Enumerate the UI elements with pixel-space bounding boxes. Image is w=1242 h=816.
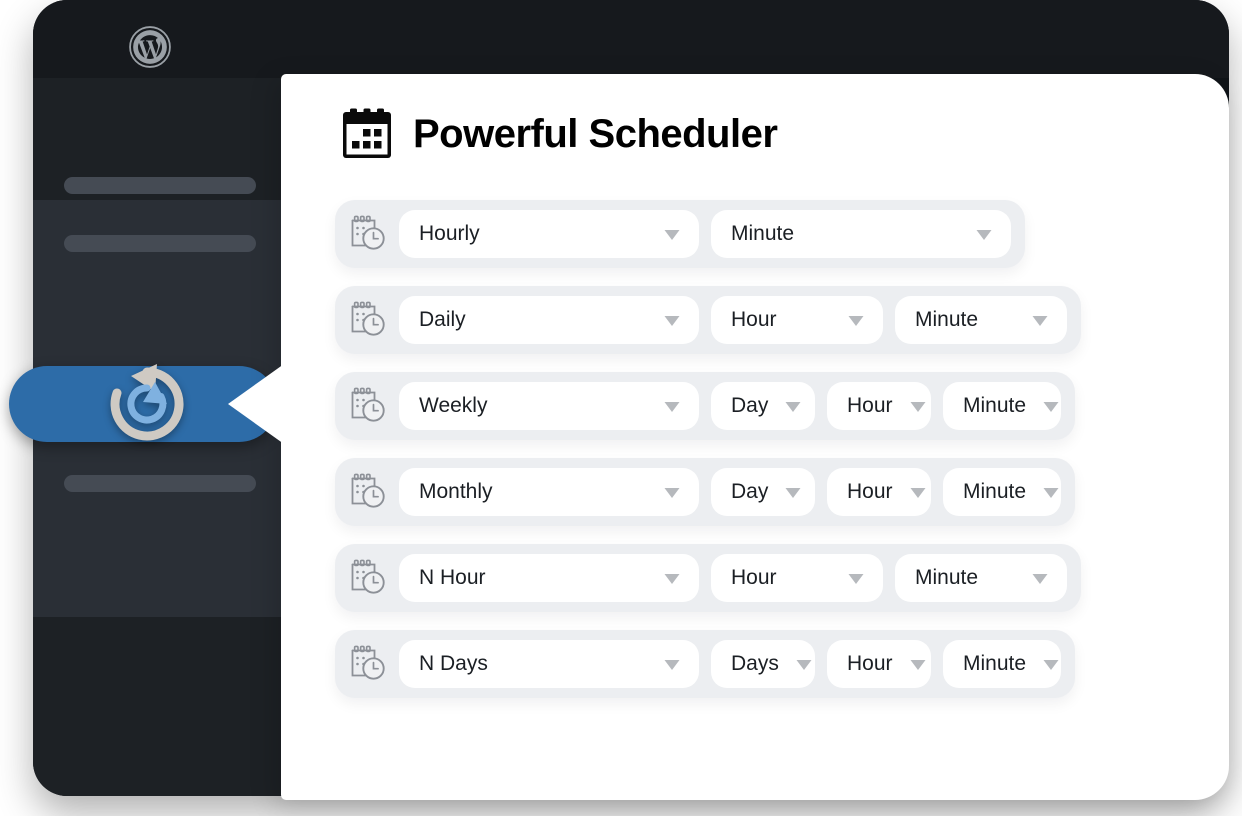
select-value: Hourly	[419, 222, 480, 246]
select-weekly-frequency[interactable]: Weekly	[399, 382, 699, 430]
select-n-days-days[interactable]: Days	[711, 640, 815, 688]
select-value: Day	[731, 480, 768, 504]
select-value: Weekly	[419, 394, 487, 418]
select-n-hour-minute[interactable]: Minute	[895, 554, 1067, 602]
select-value: Daily	[419, 308, 466, 332]
chevron-down-icon[interactable]	[661, 567, 683, 589]
chevron-down-icon[interactable]	[793, 653, 815, 675]
chevron-down-icon[interactable]	[1029, 309, 1051, 331]
chevron-down-icon[interactable]	[1040, 395, 1062, 417]
select-daily-frequency[interactable]: Daily	[399, 296, 699, 344]
select-monthly-hour[interactable]: Hour	[827, 468, 931, 516]
select-value: Monthly	[419, 480, 493, 504]
select-hourly-minute[interactable]: Minute	[711, 210, 1011, 258]
content-panel: Powerful Scheduler Hourly Minute	[281, 74, 1229, 800]
select-monthly-day[interactable]: Day	[711, 468, 815, 516]
schedule-row-weekly: Weekly Day Hour Minute	[335, 372, 1075, 440]
chevron-down-icon[interactable]	[907, 395, 929, 417]
chevron-down-icon[interactable]	[661, 395, 683, 417]
select-monthly-frequency[interactable]: Monthly	[399, 468, 699, 516]
select-value: Minute	[915, 566, 978, 590]
wordpress-admin-bar	[33, 0, 1229, 78]
select-value: Minute	[963, 480, 1026, 504]
select-value: Minute	[731, 222, 794, 246]
select-n-hour-frequency[interactable]: N Hour	[399, 554, 699, 602]
panel-notch	[228, 364, 284, 444]
select-n-days-minute[interactable]: Minute	[943, 640, 1061, 688]
select-n-hour-hour[interactable]: Hour	[711, 554, 883, 602]
calendar-icon	[341, 107, 393, 161]
schedule-row-daily: Daily Hour Minute	[335, 286, 1081, 354]
chevron-down-icon[interactable]	[661, 653, 683, 675]
chevron-down-icon[interactable]	[661, 309, 683, 331]
chevron-down-icon[interactable]	[661, 223, 683, 245]
select-daily-hour[interactable]: Hour	[711, 296, 883, 344]
select-value: N Hour	[419, 566, 486, 590]
page-title: Powerful Scheduler	[413, 112, 777, 157]
select-weekly-minute[interactable]: Minute	[943, 382, 1061, 430]
select-weekly-day[interactable]: Day	[711, 382, 815, 430]
select-value: Hour	[847, 394, 893, 418]
sidebar-item-placeholder-4[interactable]	[64, 475, 256, 492]
chevron-down-icon[interactable]	[1040, 481, 1062, 503]
schedule-row-n-days: N Days Days Hour Minute	[335, 630, 1075, 698]
select-hourly-frequency[interactable]: Hourly	[399, 210, 699, 258]
wordpress-logo-icon[interactable]	[128, 25, 172, 69]
calendar-clock-icon	[347, 557, 389, 599]
select-value: Hour	[731, 308, 777, 332]
chevron-down-icon[interactable]	[845, 309, 867, 331]
schedule-row-n-hour: N Hour Hour Minute	[335, 544, 1081, 612]
chevron-down-icon[interactable]	[907, 653, 929, 675]
select-value: Days	[731, 652, 779, 676]
select-value: Hour	[847, 480, 893, 504]
select-value: Day	[731, 394, 768, 418]
calendar-clock-icon	[347, 213, 389, 255]
schedule-row-monthly: Monthly Day Hour Minute	[335, 458, 1075, 526]
select-value: Minute	[963, 394, 1026, 418]
calendar-clock-icon	[347, 385, 389, 427]
calendar-clock-icon	[347, 643, 389, 685]
schedule-row-hourly: Hourly Minute	[335, 200, 1025, 268]
select-n-days-frequency[interactable]: N Days	[399, 640, 699, 688]
chevron-down-icon[interactable]	[1029, 567, 1051, 589]
select-daily-minute[interactable]: Minute	[895, 296, 1067, 344]
select-monthly-minute[interactable]: Minute	[943, 468, 1061, 516]
schedule-rows: Hourly Minute Daily Hour	[335, 200, 1205, 716]
select-value: Minute	[963, 652, 1026, 676]
select-value: N Days	[419, 652, 488, 676]
chevron-down-icon[interactable]	[782, 481, 804, 503]
sync-refresh-icon[interactable]	[95, 352, 199, 456]
chevron-down-icon[interactable]	[907, 481, 929, 503]
chevron-down-icon[interactable]	[1040, 653, 1062, 675]
sidebar-item-placeholder-2[interactable]	[64, 235, 256, 252]
select-value: Hour	[847, 652, 893, 676]
sidebar-item-placeholder-1[interactable]	[64, 177, 256, 194]
select-weekly-hour[interactable]: Hour	[827, 382, 931, 430]
chevron-down-icon[interactable]	[661, 481, 683, 503]
screenshot-stage: Powerful Scheduler Hourly Minute	[0, 0, 1242, 816]
chevron-down-icon[interactable]	[973, 223, 995, 245]
calendar-clock-icon	[347, 299, 389, 341]
select-value: Hour	[731, 566, 777, 590]
chevron-down-icon[interactable]	[782, 395, 804, 417]
calendar-clock-icon	[347, 471, 389, 513]
select-value: Minute	[915, 308, 978, 332]
select-n-days-hour[interactable]: Hour	[827, 640, 931, 688]
panel-header: Powerful Scheduler	[341, 107, 777, 161]
chevron-down-icon[interactable]	[845, 567, 867, 589]
